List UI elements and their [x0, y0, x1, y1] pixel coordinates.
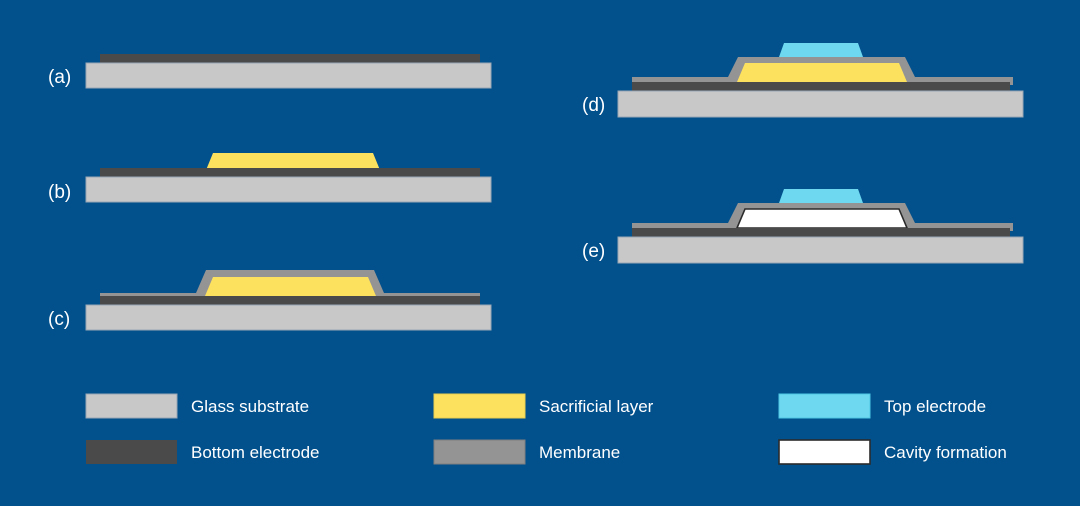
legend-label-cavity-formation: Cavity formation	[884, 443, 1007, 462]
legend-item-sacrificial-layer: Sacrificial layer	[434, 394, 654, 418]
legend-swatch-cavity-formation	[779, 440, 870, 464]
legend-item-cavity-formation: Cavity formation	[779, 440, 1007, 464]
panel-e-label: (e)	[582, 241, 605, 262]
panel-d-top-electrode	[779, 43, 863, 57]
panel-e-bottom-electrode	[632, 228, 1010, 237]
panel-b-bottom-electrode	[100, 168, 480, 177]
legend-swatch-bottom-electrode	[86, 440, 177, 464]
panel-c-sacrificial-layer	[205, 277, 376, 296]
panel-b-glass-substrate	[86, 177, 491, 202]
process-flow-figure: (a) (b) (c) (d) (e)	[0, 0, 1080, 506]
legend-swatch-sacrificial-layer	[434, 394, 525, 418]
legend-swatch-glass-substrate	[86, 394, 177, 418]
panel-d-sacrificial-layer	[737, 63, 907, 82]
legend-label-glass-substrate: Glass substrate	[191, 397, 309, 416]
panel-d-bottom-electrode	[632, 82, 1010, 91]
panel-b-label: (b)	[48, 182, 71, 203]
legend-label-sacrificial-layer: Sacrificial layer	[539, 397, 654, 416]
panel-a-glass-substrate	[86, 63, 491, 88]
legend-label-top-electrode: Top electrode	[884, 397, 986, 416]
panel-e-top-electrode	[779, 189, 863, 203]
legend-label-bottom-electrode: Bottom electrode	[191, 443, 320, 462]
panel-c-glass-substrate	[86, 305, 491, 330]
legend-item-bottom-electrode: Bottom electrode	[86, 440, 320, 464]
legend-item-glass-substrate: Glass substrate	[86, 394, 309, 418]
panel-a-label: (a)	[48, 67, 71, 88]
panel-c-label: (c)	[48, 309, 70, 330]
legend-swatch-top-electrode	[779, 394, 870, 418]
panel-d-glass-substrate	[618, 91, 1023, 117]
legend-swatch-membrane	[434, 440, 525, 464]
panel-c-bottom-electrode	[100, 296, 480, 305]
panel-a: (a)	[48, 54, 491, 88]
panel-a-bottom-electrode	[100, 54, 480, 63]
panel-d-label: (d)	[582, 95, 605, 116]
panel-e-cavity-formation	[737, 209, 907, 228]
panel-e-glass-substrate	[618, 237, 1023, 263]
legend-label-membrane: Membrane	[539, 443, 620, 462]
